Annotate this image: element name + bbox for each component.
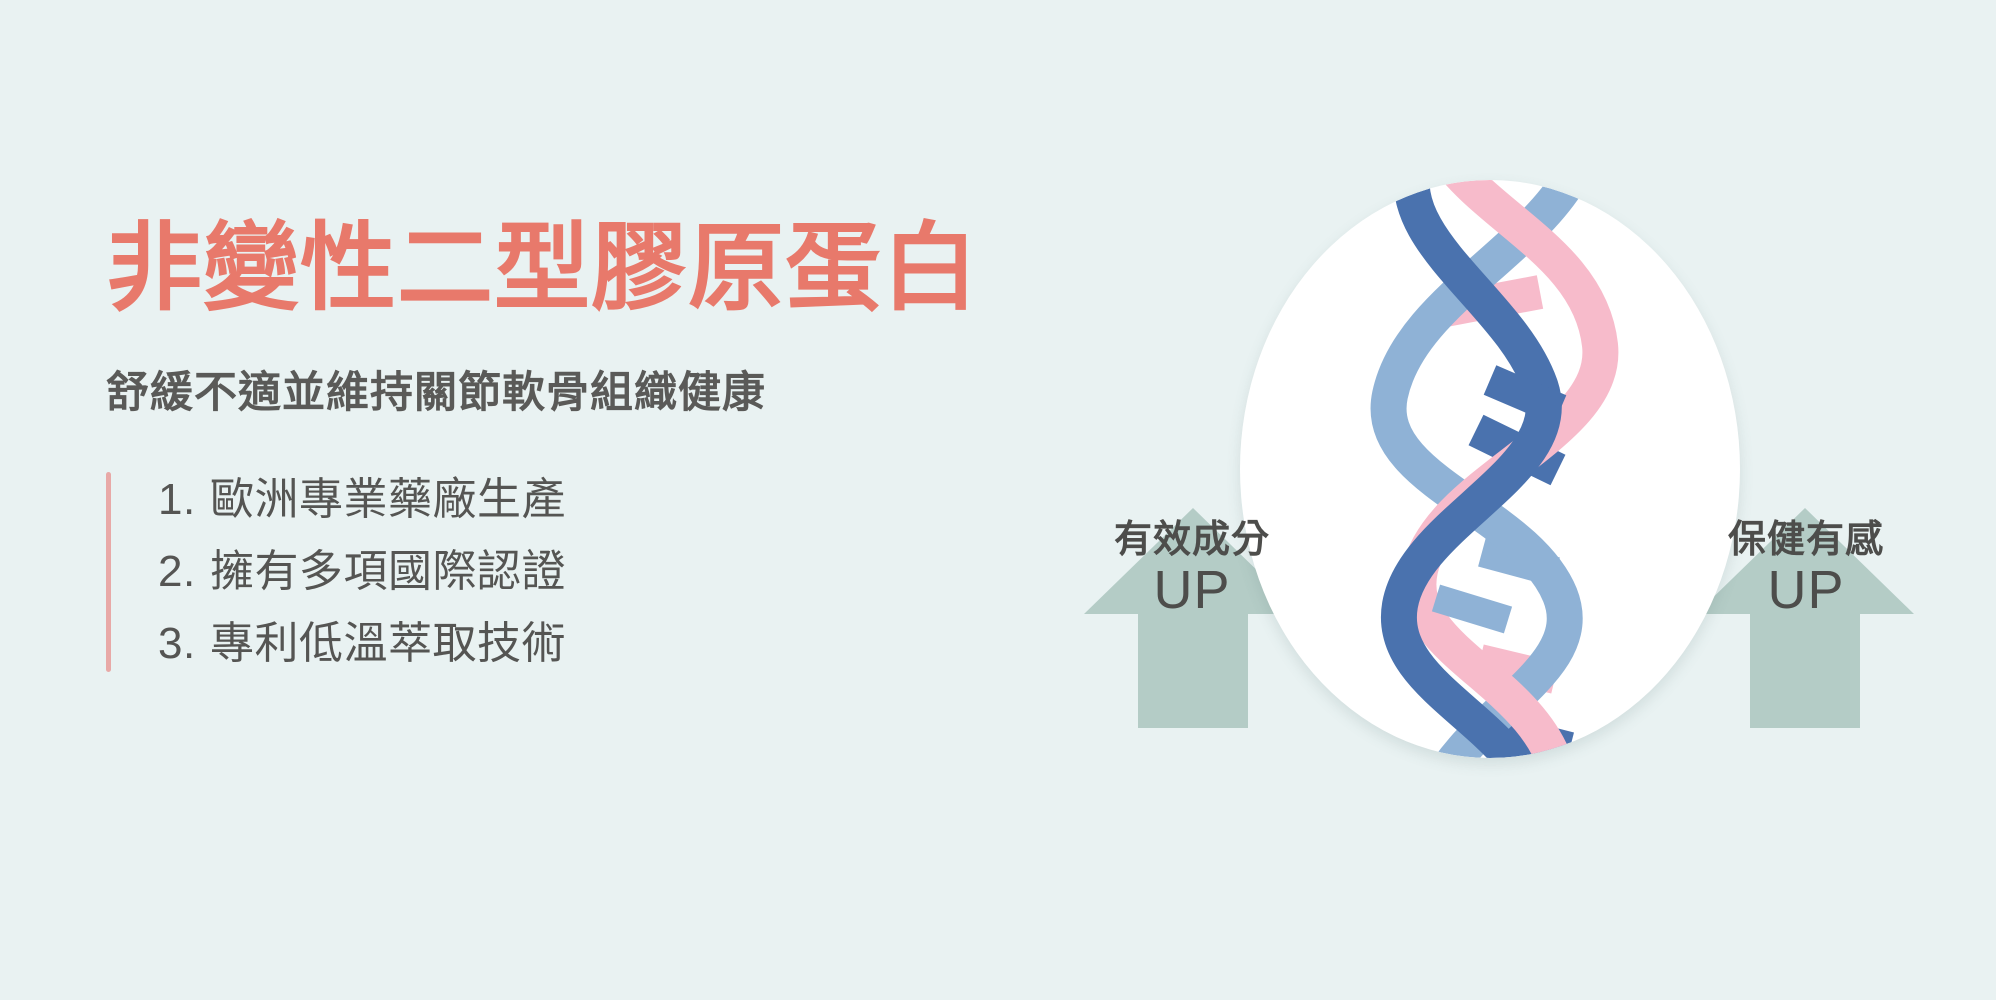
list-item-label: 擁有多項國際認證 [210,547,566,596]
list-item: 1.歐洲專業藥廠生產 [150,464,1106,536]
list-item-label: 歐洲專業藥廠生產 [210,475,566,524]
list-item-number: 3. [158,622,210,666]
list-item-number: 1. [158,478,210,522]
feature-accent-rule [106,472,111,672]
text-column: 非變性二型膠原蛋白 舒緩不適並維持關節軟骨組織健康 1.歐洲專業藥廠生產 2.擁… [106,218,1106,680]
dna-double-helix-illustration: 有效成分 UP 保健有感 UP [1040,180,1960,820]
product-banner: 非變性二型膠原蛋白 舒緩不適並維持關節軟骨組織健康 1.歐洲專業藥廠生產 2.擁… [0,0,1996,1000]
helix-disc [1240,180,1740,758]
list-item-number: 2. [158,550,210,594]
list-item-label: 專利低溫萃取技術 [210,619,566,668]
feature-list: 1.歐洲專業藥廠生產 2.擁有多項國際認證 3.專利低溫萃取技術 [150,464,1106,680]
feature-block: 1.歐洲專業藥廠生產 2.擁有多項國際認證 3.專利低溫萃取技術 [106,464,1106,680]
list-item: 2.擁有多項國際認證 [150,536,1106,608]
page-title: 非變性二型膠原蛋白 [106,218,1106,320]
subtitle: 舒緩不適並維持關節軟骨組織健康 [106,358,1106,420]
list-item: 3.專利低溫萃取技術 [150,608,1106,680]
